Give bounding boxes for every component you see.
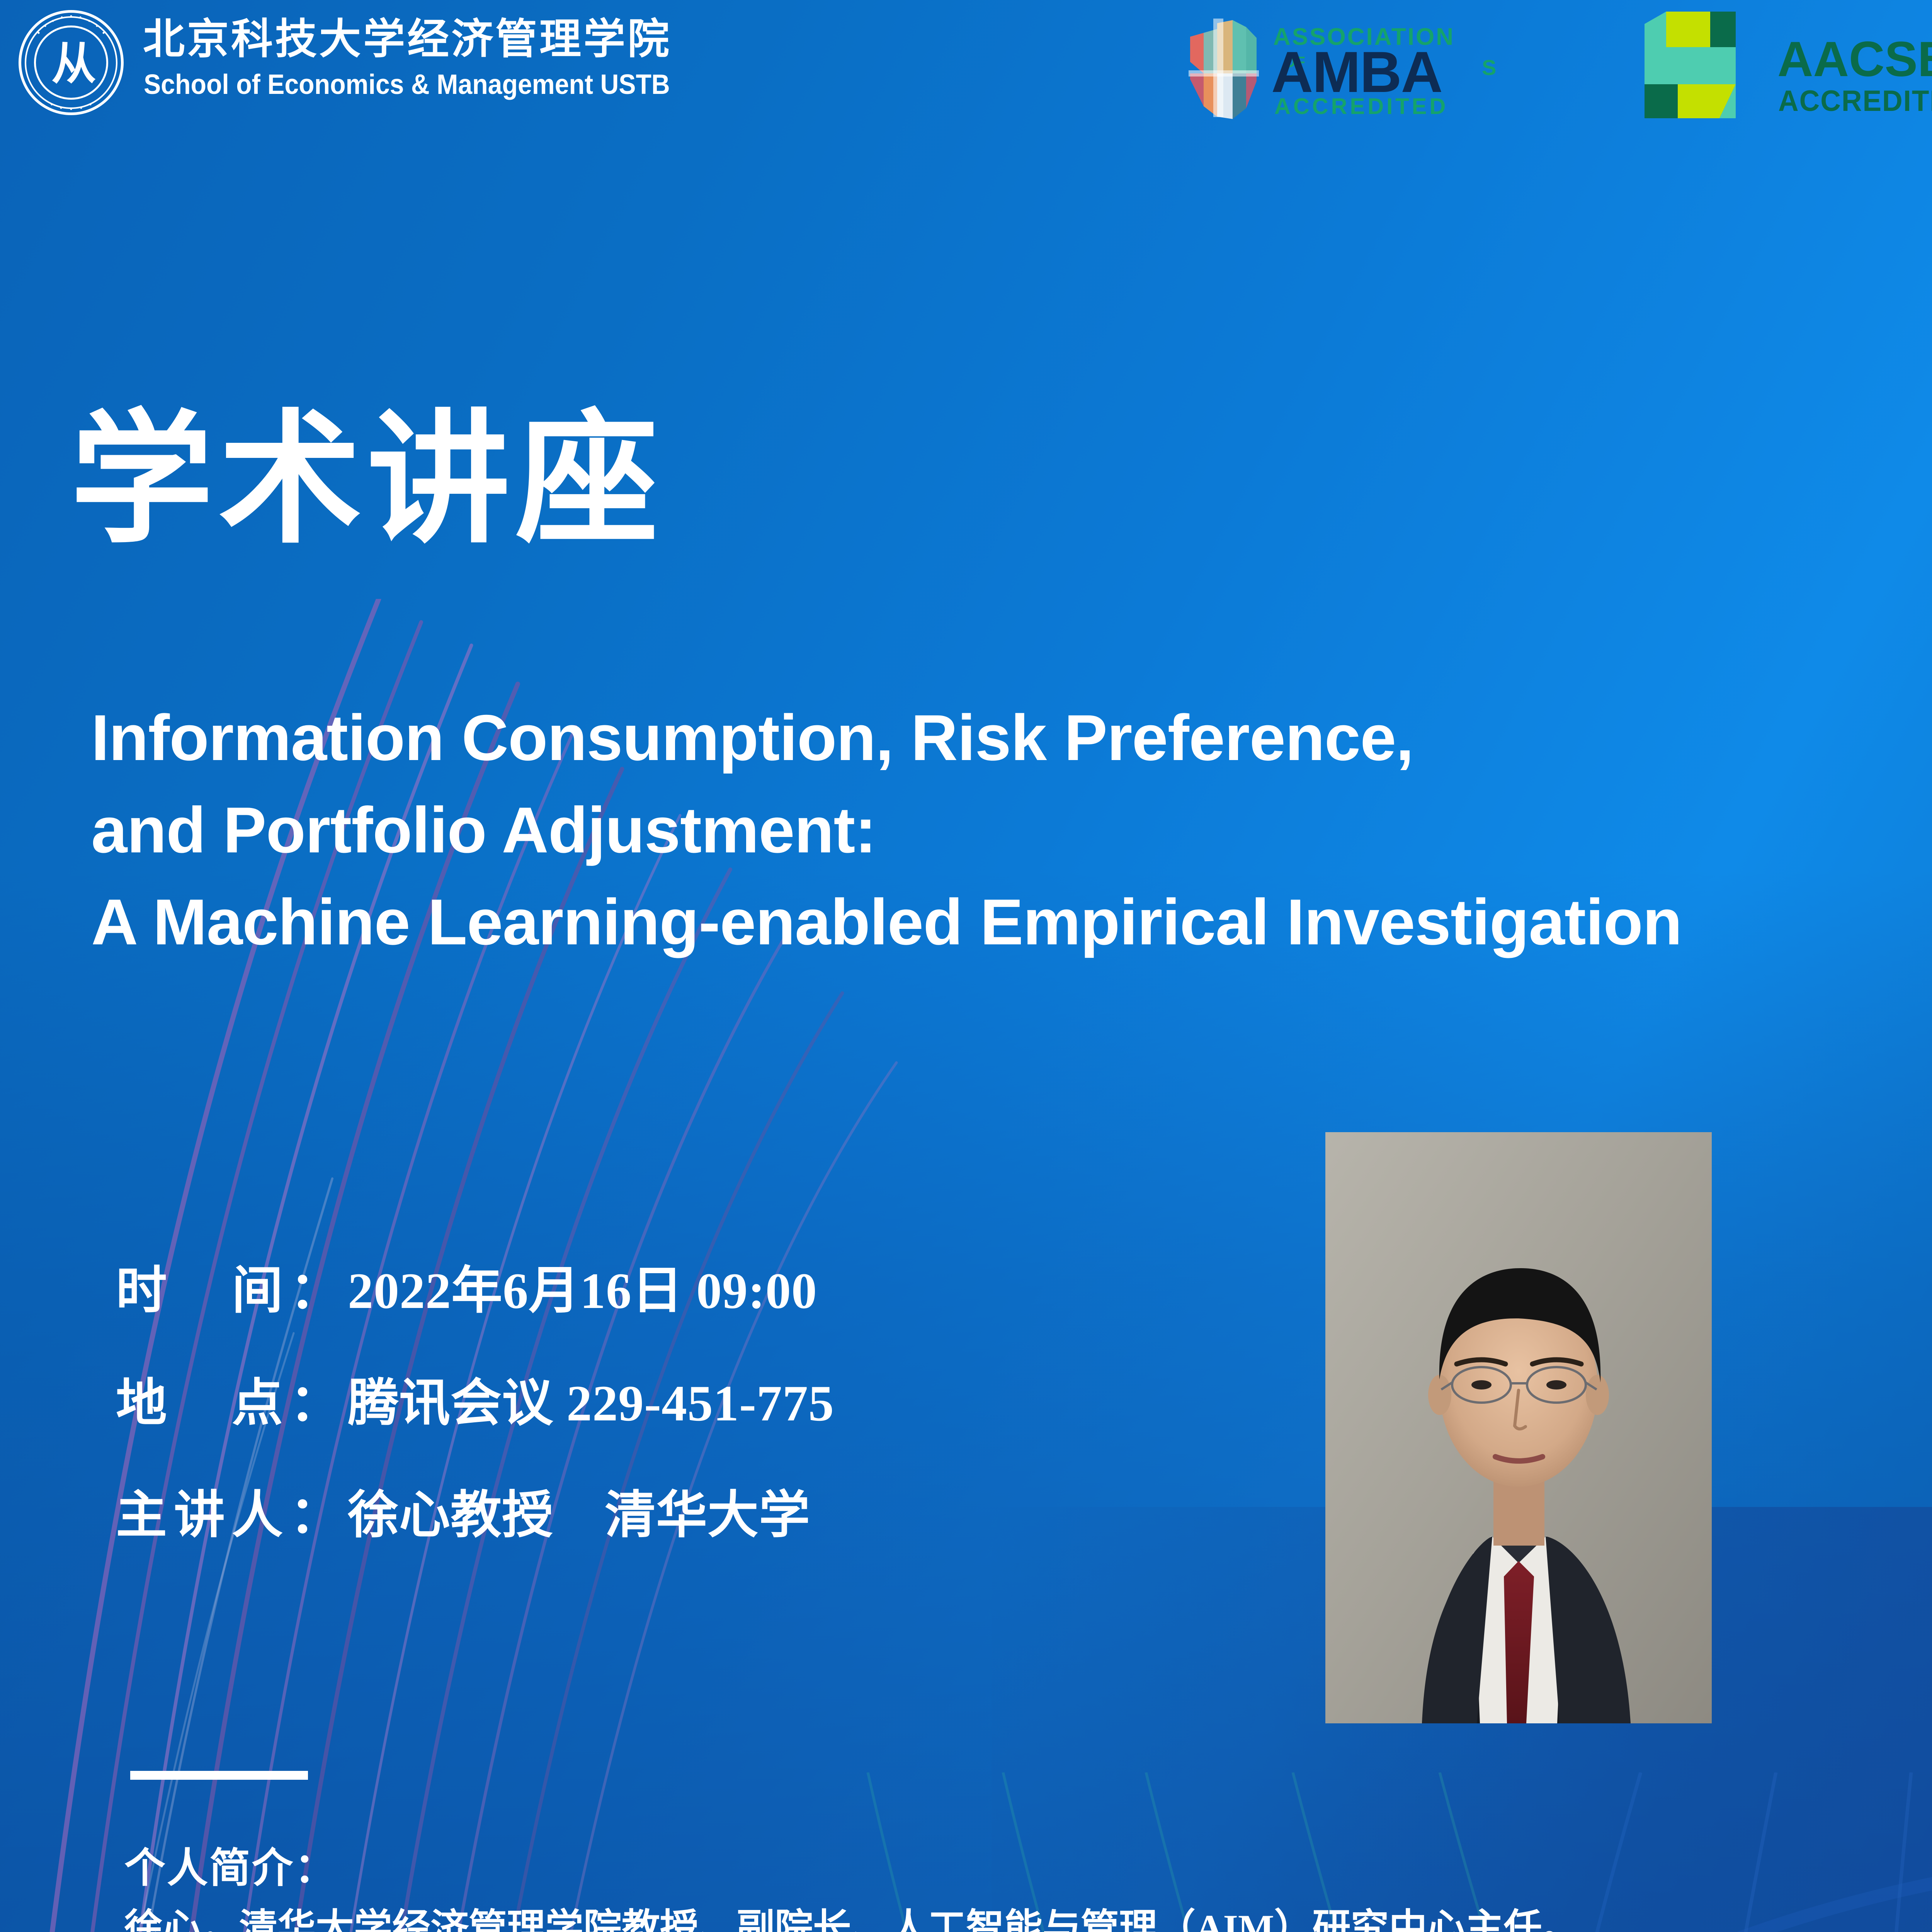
bio-line-1: 徐心，清华大学经济管理学院教授、副院长、人工智能与管理（AIM）研究中心主任。 [124, 1903, 1932, 1932]
event-detail-speaker-value: 徐心教授 清华大学 [348, 1487, 810, 1544]
aacsb-blocks-icon [1642, 9, 1770, 121]
event-detail-location-label: 地 点： [116, 1375, 348, 1432]
aacsb-accreditation-badge: AACSB ACCREDITED [1642, 9, 1932, 121]
section-divider [130, 1771, 308, 1780]
talk-title: Information Consumption, Risk Preference… [91, 692, 1932, 968]
event-detail-time: 时 间：2022年6月16日 09:00 [116, 1264, 834, 1319]
event-detail-speaker-label: 主讲人： [116, 1487, 348, 1544]
poster-header: 从 北京科技大学经济管理学院 School of Economics & Man… [0, 0, 1932, 128]
page-title: 学术讲座 [70, 410, 664, 553]
amba-plural-s: S [1482, 55, 1496, 80]
talk-title-line-3: A Machine Learning-enabled Empirical Inv… [91, 876, 1932, 968]
speaker-portrait [1325, 1132, 1712, 1723]
speaker-bio: 个人简介： 徐心，清华大学经济管理学院教授、副院长、人工智能与管理（AIM）研究… [124, 1843, 1932, 1932]
talk-title-line-1: Information Consumption, Risk Preference… [91, 692, 1932, 784]
event-detail-time-value: 2022年6月16日 09:00 [348, 1262, 817, 1319]
seal-mark-glyph: 从 [51, 42, 91, 87]
event-detail-location-value: 腾讯会议 229-451-775 [348, 1375, 834, 1432]
aacsb-wordmark: AACSB [1777, 31, 1932, 88]
amba-accreditation-badge: ASSOCIATION OF AMBA S ACCREDITED [1175, 12, 1584, 120]
event-detail-time-label: 时 间： [116, 1262, 348, 1319]
school-name-cn: 北京科技大学经济管理学院 [143, 18, 672, 61]
school-name-en: School of Economics & Management USTB [144, 69, 670, 100]
amba-accredited-text: ACCREDITED [1274, 94, 1448, 119]
lecture-poster: 中華之崛起 七六届毕业生于八四年七月 敬立 从 北 [0, 0, 1932, 1932]
talk-title-line-2: and Portfolio Adjustment: [91, 784, 1932, 876]
ustb-seal-icon: 从 [19, 10, 124, 115]
aacsb-accredited-text: ACCREDITED [1778, 84, 1932, 118]
amba-gem-icon [1175, 15, 1271, 120]
bio-heading: 个人简介： [124, 1843, 1932, 1895]
event-detail-location: 地 点：腾讯会议 229-451-775 [116, 1376, 834, 1431]
event-detail-speaker: 主讲人：徐心教授 清华大学 [116, 1488, 834, 1543]
event-details: 时 间：2022年6月16日 09:00 地 点：腾讯会议 229-451-77… [116, 1264, 834, 1600]
